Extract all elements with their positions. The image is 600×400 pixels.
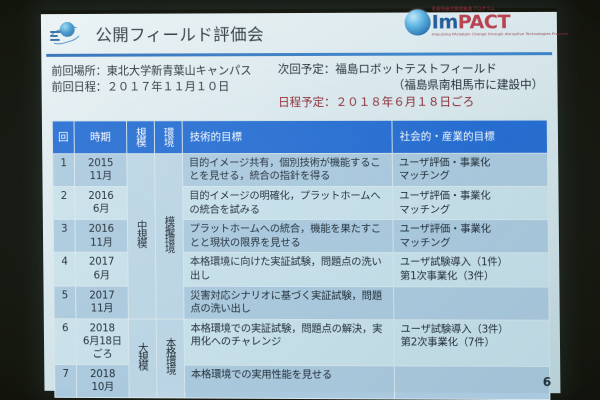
small-globe-icon <box>60 22 75 37</box>
cell-scale-medium: 中規模 <box>127 154 156 319</box>
cell-period: 201810月 <box>76 364 129 397</box>
cell-social-goal <box>394 366 550 400</box>
cell-tech-goal: 本格環境に向けた実証試験，問題点の洗い出し <box>183 253 393 287</box>
table-header: 回 時期 規模 環境 技術的目標 社会的・産業的目標 <box>52 120 547 154</box>
emblem-bars-shape <box>50 31 61 42</box>
cell-round-number: 6 <box>54 318 76 364</box>
cell-social-goal: ユーザ評価・事業化マッチング <box>393 220 549 253</box>
roadmap-table-wrapper: 回 時期 規模 環境 技術的目標 社会的・産業的目標 1201511月中規模模擬… <box>52 119 551 399</box>
cell-period: 20176月 <box>75 253 128 286</box>
cell-round-number: 3 <box>53 220 75 253</box>
cell-period: 201611月 <box>75 220 128 253</box>
cell-social-goal: ユーザ評価・事業化マッチング <box>392 153 548 186</box>
cell-round-number: 4 <box>54 253 76 286</box>
cell-social-goal: ユーザ試験導入（1件）第1次事業化（3件） <box>393 253 549 287</box>
header-divider <box>46 52 552 56</box>
cell-tech-goal: 本格環境での実用性能を見せる <box>184 365 394 399</box>
page-title: 公開フィールド評価会 <box>95 21 264 46</box>
cell-tech-goal: プラットホームへの統合，機能を果たすことと現状の限界を見せる <box>183 220 393 253</box>
cell-tech-goal: 災害対応シナリオに基づく実証試験，問題点の洗い出し <box>184 286 394 320</box>
cell-tech-goal: 目的イメージの明確化，プラットホームへの統合を試みる <box>183 187 393 220</box>
cell-social-goal <box>394 286 550 320</box>
cell-scale-large: 大規模 <box>128 319 157 398</box>
cell-round-number: 5 <box>54 285 76 318</box>
col-header-num: 回 <box>52 121 74 154</box>
cell-env-full: 本格環境 <box>156 319 185 398</box>
slide-surface: 革新的研究開発推進プログラム ImPACT Impulsing PAradigm… <box>41 8 561 389</box>
col-header-scale: 規模 <box>127 121 155 154</box>
cell-tech-goal: 目的イメージ共有，個別技術が機能することを見せる，統合の指針を得る <box>182 153 392 186</box>
info-block: 前回場所：東北大学新青葉山キャンパス 前回日程：２０１７年１１月１０日 次回予定… <box>51 60 549 112</box>
table-row: 3201611月プラットホームへの統合，機能を果たすことと現状の限界を見せるユー… <box>53 220 548 254</box>
next-date: 日程予定：２０１８年６月１８日ごろ <box>278 93 550 110</box>
cell-env-simulated: 模擬環境 <box>155 154 184 319</box>
cell-round-number: 7 <box>55 364 77 397</box>
cell-period: 201711月 <box>76 286 129 319</box>
globe-icon <box>404 9 430 35</box>
projected-slide-photo: 革新的研究開発推進プログラム ImPACT Impulsing PAradigm… <box>0 0 600 400</box>
cell-social-goal: ユーザ評価・事業化マッチング <box>393 186 549 219</box>
table-row: 420176月本格環境に向けた実証試験，問題点の洗い出しユーザ試験導入（1件）第… <box>54 253 549 287</box>
table-header-row: 回 時期 規模 環境 技術的目標 社会的・産業的目標 <box>52 120 547 154</box>
table-row: 1201511月中規模模擬環境目的イメージ共有，個別技術が機能することを見せる，… <box>53 153 548 186</box>
presentation-slide: 革新的研究開発推進プログラム ImPACT Impulsing PAradigm… <box>41 12 561 393</box>
cell-period: 201511月 <box>74 154 127 187</box>
cell-tech-goal: 本格環境での実証試験，問題点の解決，実用化へのチャレンジ <box>184 319 394 366</box>
table-row: 5201711月災害対応シナリオに基づく実証試験，問題点の洗い出し <box>54 285 549 319</box>
col-header-period: 時期 <box>74 121 127 154</box>
col-header-tech-goal: 技術的目標 <box>182 120 392 153</box>
roadmap-table: 回 時期 規模 環境 技術的目標 社会的・産業的目標 1201511月中規模模擬… <box>52 119 551 399</box>
info-next: 次回予定：福島ロボットテストフィールド （福島県南相馬市に建設中） 日程予定：２… <box>278 60 550 111</box>
next-place: 次回予定：福島ロボットテストフィールド <box>278 60 550 78</box>
impact-wordmark-pact: PACT <box>458 11 510 33</box>
previous-place: 前回場所：東北大学新青葉山キャンパス <box>51 63 278 80</box>
impact-wordmark-im: Im <box>432 11 458 33</box>
impact-logo: 革新的研究開発推進プログラム ImPACT Impulsing PAradigm… <box>404 4 554 41</box>
table-row: 620186月18日ごろ大規模本格環境本格環境での実証試験，問題点の解決，実用化… <box>54 318 549 366</box>
cell-period: 20166月 <box>75 187 128 220</box>
cell-round-number: 2 <box>53 187 75 220</box>
impact-wordmark: 革新的研究開発推進プログラム ImPACT Impulsing PAradigm… <box>432 7 569 37</box>
cell-period: 20186月18日ごろ <box>76 319 129 365</box>
program-emblem-icon <box>48 21 82 47</box>
cell-round-number: 1 <box>53 154 75 187</box>
page-number: 6 <box>543 375 552 389</box>
impact-wordmark-text: ImPACT <box>432 13 569 33</box>
cell-social-goal: ユーザ試験導入（3件）第2次事業化（7件） <box>394 319 550 366</box>
table-body: 1201511月中規模模擬環境目的イメージ共有，個別技術が機能することを見せる，… <box>53 153 550 399</box>
next-place-note: （福島県南相馬市に建設中） <box>278 77 550 95</box>
info-previous: 前回場所：東北大学新青葉山キャンパス 前回日程：２０１７年１１月１０日 <box>51 61 278 112</box>
col-header-social-goal: 社会的・産業的目標 <box>392 120 548 153</box>
previous-date: 前回日程：２０１７年１１月１０日 <box>51 79 278 96</box>
col-header-env: 環境 <box>154 121 182 154</box>
impact-tagline-bottom: Impulsing PAradigm Change through disrup… <box>432 33 569 37</box>
table-row: 220166月目的イメージの明確化，プラットホームへの統合を試みるユーザ評価・事… <box>53 186 548 219</box>
table-row: 7201810月本格環境での実用性能を見せる <box>55 364 550 399</box>
